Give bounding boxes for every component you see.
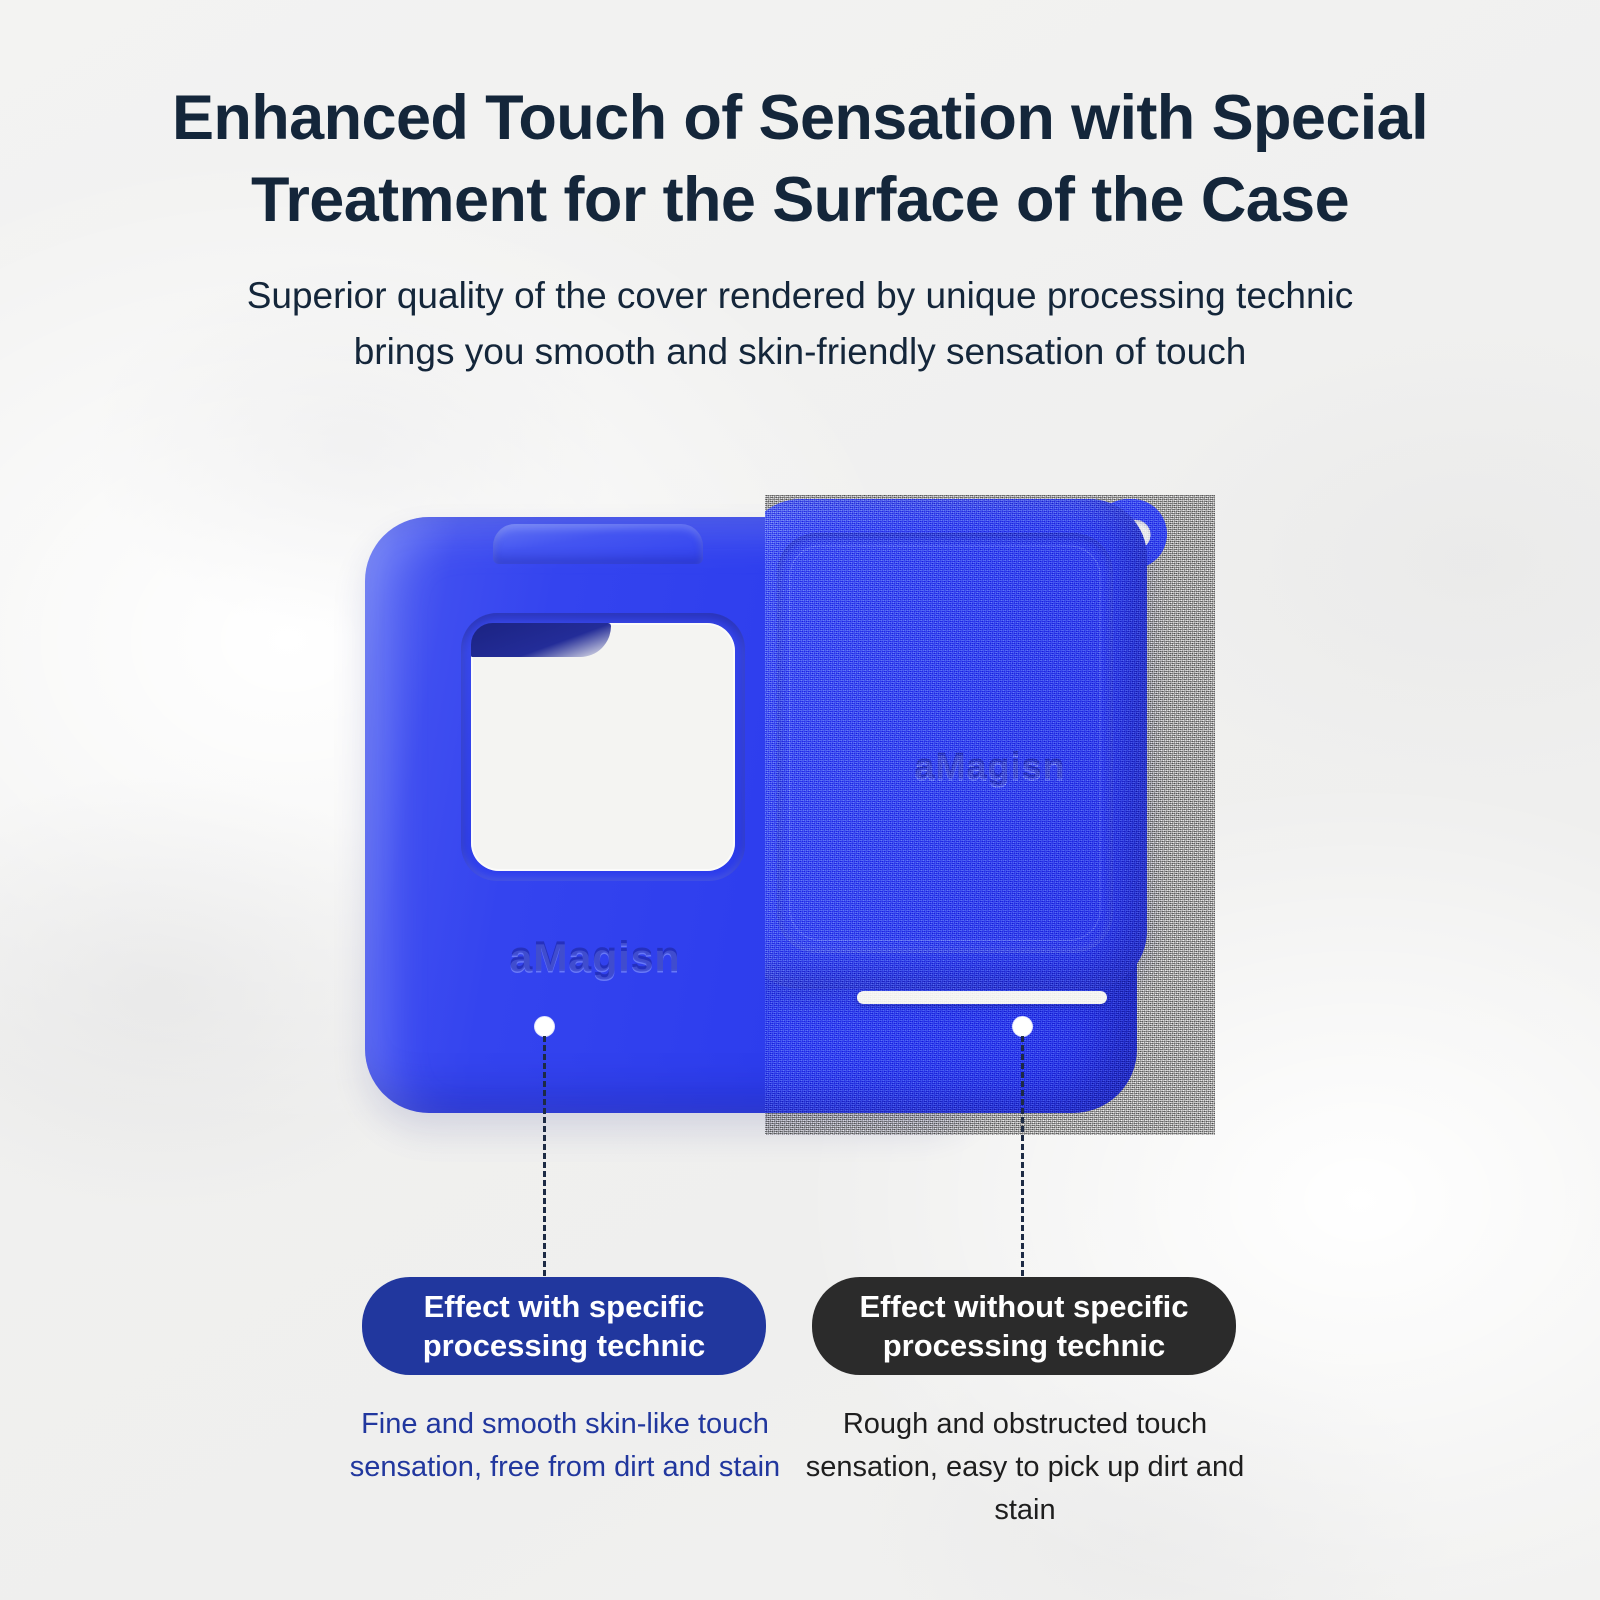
screen-cutout [461, 613, 745, 881]
callout-dot-smooth [535, 1017, 554, 1036]
brand-logo-embossed-smooth: aMagisn [465, 929, 725, 985]
lanyard-loop-hole [1111, 514, 1156, 559]
lanyard-loop [1093, 499, 1167, 569]
callout-leader-line-rough [1021, 1036, 1024, 1276]
page-subtitle: Superior quality of the cover rendered b… [0, 268, 1600, 380]
infographic-page: Enhanced Touch of Sensation with Special… [0, 0, 1600, 1600]
header: Enhanced Touch of Sensation with Special… [0, 78, 1600, 380]
shutter-button-bump [493, 524, 703, 564]
case-body-smooth: aMagisn [365, 517, 985, 1113]
page-title: Enhanced Touch of Sensation with Special… [0, 78, 1600, 242]
badge-without-technic[interactable]: Effect without specific processing techn… [812, 1277, 1236, 1375]
screen-inner-shadow [471, 623, 611, 657]
screen-opening [471, 623, 735, 871]
caption-with-technic: Fine and smooth skin-like touch sensatio… [330, 1403, 800, 1489]
callout-leader-line-smooth [543, 1036, 546, 1276]
badge-with-technic[interactable]: Effect with specific processing technic [362, 1277, 766, 1375]
product-image-silicone-case: aMagisn aMagisn [355, 495, 1215, 1135]
caption-without-technic: Rough and obstructed touch sensation, ea… [800, 1403, 1250, 1532]
callout-dot-rough [1013, 1017, 1032, 1036]
